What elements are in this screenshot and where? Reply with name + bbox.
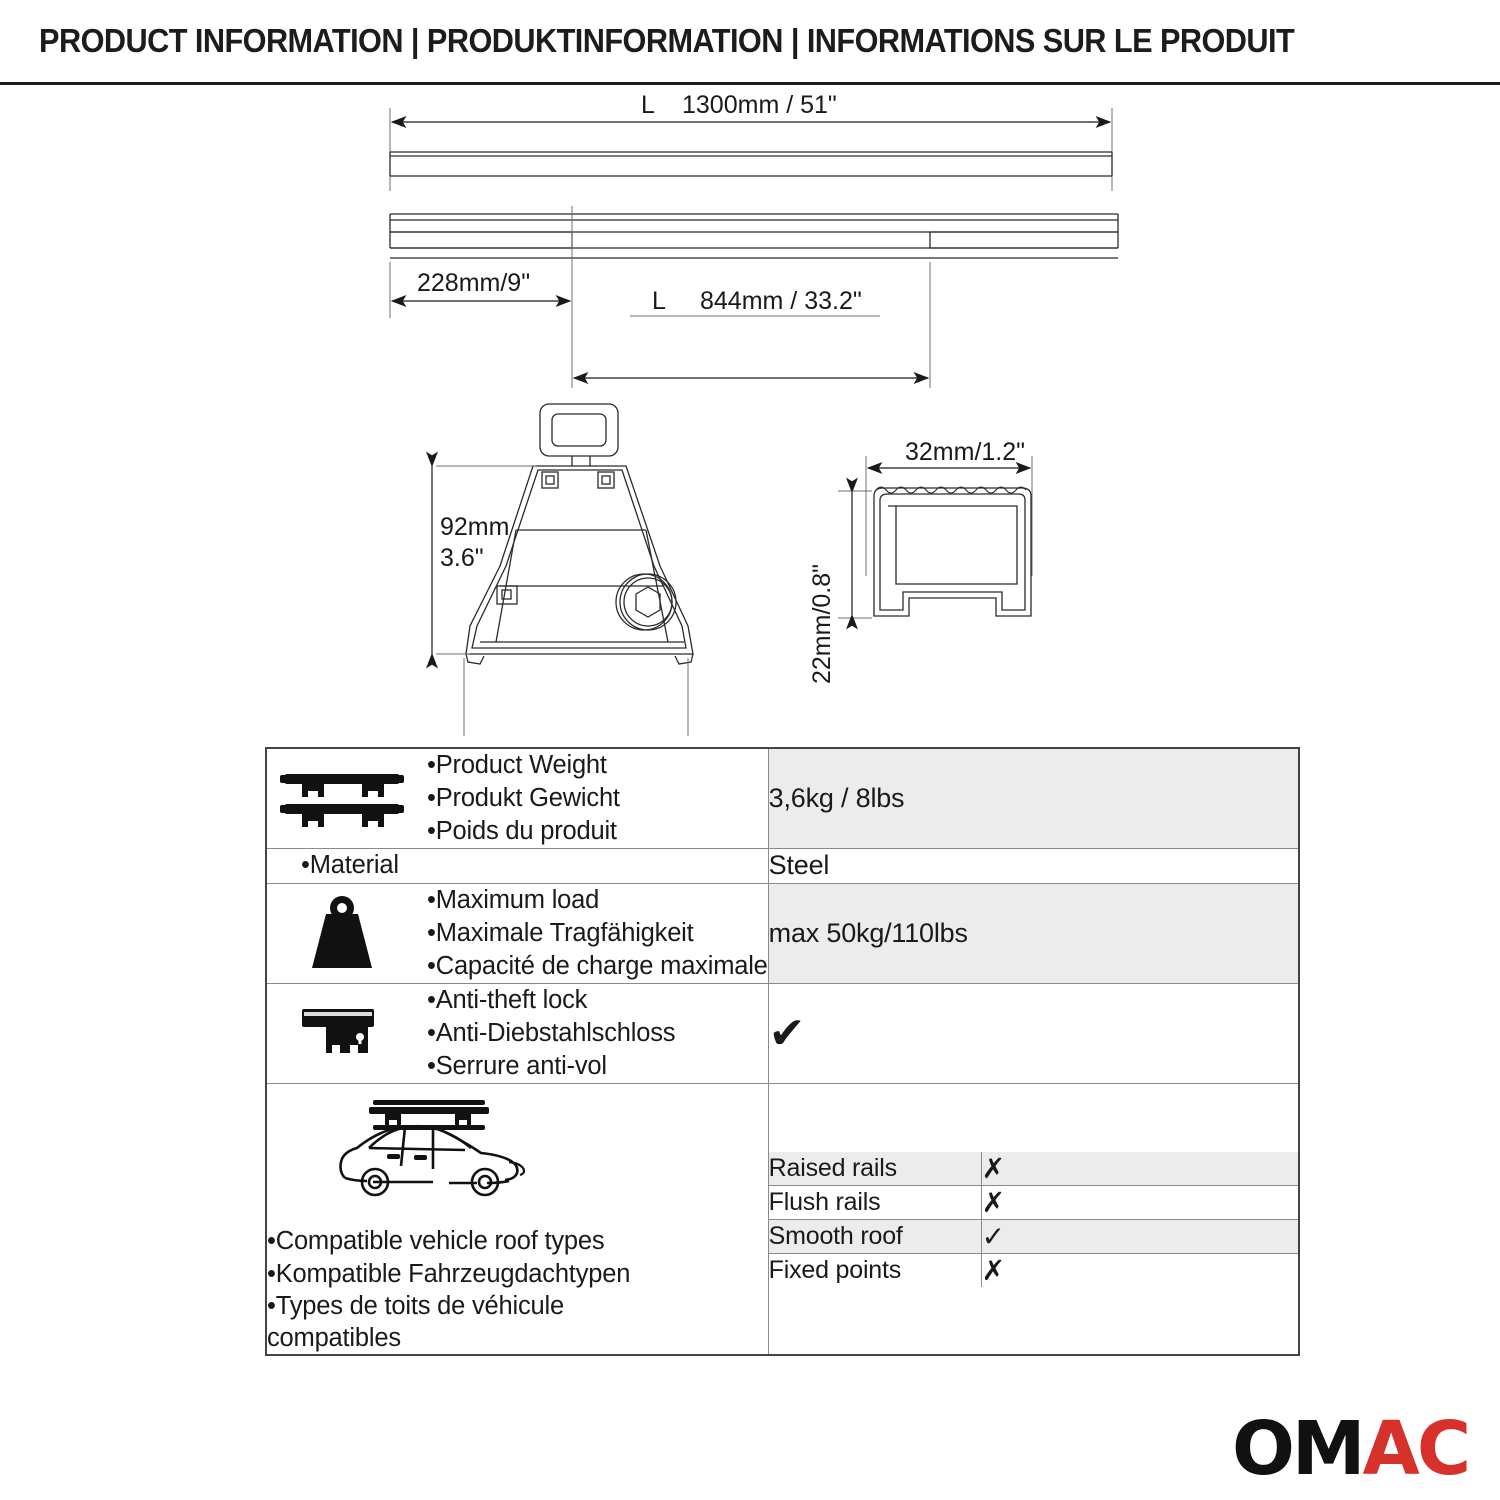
bullet-line: •Anti-Diebstahlschloss <box>427 1017 675 1050</box>
spec-label-cell: •Anti-theft lock •Anti-Diebstahlschloss … <box>266 983 768 1083</box>
spec-label-cell: •Maximum load •Maximale Tragfähigkeit •C… <box>266 883 768 983</box>
page-header: PRODUCT INFORMATION | PRODUKTINFORMATION… <box>0 0 1500 82</box>
roof-type-row: Fixed points ✗ <box>769 1253 1298 1287</box>
end-offset-value: 228mm/9" <box>417 269 530 297</box>
roof-type-mark: ✗ <box>981 1152 1298 1186</box>
roof-type-mark: ✗ <box>981 1253 1298 1287</box>
crossbars-icon <box>267 768 417 830</box>
spec-bullets: •Material <box>267 849 399 882</box>
roof-type-mark: ✗ <box>981 1185 1298 1219</box>
lock-icon <box>267 1001 417 1067</box>
bullet-line: •Maximum load <box>427 884 768 917</box>
bullet-line: •Serrure anti-vol <box>427 1050 675 1083</box>
roof-type-row: Smooth roof ✓ <box>769 1219 1298 1253</box>
roof-type-mark: ✓ <box>981 1219 1298 1253</box>
checkmark-icon: ✔ <box>769 1008 806 1059</box>
spec-bullets: •Maximum load •Maximale Tragfähigkeit •C… <box>427 884 768 983</box>
bullet-line: •Kompatible Fahrzeugdachtypen <box>267 1258 630 1290</box>
technical-drawing: L 1300mm / 51" 228mm/9" L 844mm / 33.2" … <box>0 86 1500 736</box>
header-divider <box>0 82 1500 85</box>
foot-height-line2: 3.6" <box>440 544 484 572</box>
span-value: 844mm / 33.2" <box>700 287 862 315</box>
roof-type-name: Flush rails <box>769 1185 982 1219</box>
roof-type-row: Flush rails ✗ <box>769 1185 1298 1219</box>
spec-bullets: •Product Weight •Produkt Gewicht •Poids … <box>427 749 620 848</box>
bar-length-value: 1300mm / 51" <box>682 91 837 119</box>
table-row: •Maximum load •Maximale Tragfähigkeit •C… <box>266 883 1299 983</box>
compatibility-label-cell: •Compatible vehicle roof types •Kompatib… <box>266 1084 768 1355</box>
bullet-line: •Capacité de charge maximale <box>427 950 768 983</box>
table-row: •Compatible vehicle roof types •Kompatib… <box>266 1084 1299 1355</box>
roof-type-name: Raised rails <box>769 1152 982 1186</box>
roof-type-name: Smooth roof <box>769 1219 982 1253</box>
bullet-line: •Types de toits de véhicule <box>267 1290 630 1322</box>
roof-type-name: Fixed points <box>769 1253 982 1287</box>
roof-types-table: Raised rails ✗ Flush rails ✗ Smooth roof… <box>769 1152 1298 1287</box>
profile-width-value: 32mm/1.2" <box>905 438 1025 466</box>
compatibility-bullets: •Compatible vehicle roof types •Kompatib… <box>267 1225 630 1354</box>
roof-types-cell: Raised rails ✗ Flush rails ✗ Smooth roof… <box>768 1084 1299 1355</box>
bullet-line: •Material <box>301 849 399 882</box>
logo-text-red: AC <box>1363 1412 1469 1486</box>
spec-value-max-load: max 50kg/110lbs <box>768 883 1299 983</box>
bullet-line: •Compatible vehicle roof types <box>267 1225 630 1257</box>
bullet-line: •Maximale Tragfähigkeit <box>427 917 768 950</box>
product-spec-table: •Product Weight •Produkt Gewicht •Poids … <box>265 747 1300 1356</box>
bullet-line: •Anti-theft lock <box>427 984 675 1017</box>
spec-value-weight: 3,6kg / 8lbs <box>768 748 1299 849</box>
foot-height-line1: 92mm <box>440 513 509 541</box>
table-row: •Anti-theft lock •Anti-Diebstahlschloss … <box>266 983 1299 1083</box>
spec-bullets: •Anti-theft lock •Anti-Diebstahlschloss … <box>427 984 675 1083</box>
profile-height-value: 22mm/0.8" <box>808 564 836 684</box>
bullet-line: •Product Weight <box>427 749 620 782</box>
bullet-line: •Poids du produit <box>427 815 620 848</box>
table-row: •Material Steel <box>266 849 1299 883</box>
page-title: PRODUCT INFORMATION | PRODUKTINFORMATION… <box>0 22 1294 60</box>
roof-type-row: Raised rails ✗ <box>769 1152 1298 1186</box>
spec-value-anti-theft: ✔ <box>768 983 1299 1083</box>
car-with-rack-icon <box>313 1090 543 1215</box>
bar-length-label: L <box>641 91 655 119</box>
spec-label-cell: •Product Weight •Produkt Gewicht •Poids … <box>266 748 768 849</box>
weight-icon <box>267 894 417 972</box>
logo-text-black: OM <box>1232 1412 1363 1486</box>
span-label: L <box>652 287 666 315</box>
omac-logo: OM AC <box>1232 1412 1468 1486</box>
table-row: •Product Weight •Produkt Gewicht •Poids … <box>266 748 1299 849</box>
spec-label-cell: •Material <box>266 849 768 883</box>
bullet-line: compatibles <box>267 1322 630 1354</box>
spec-value-material: Steel <box>768 849 1299 883</box>
bullet-line: •Produkt Gewicht <box>427 782 620 815</box>
